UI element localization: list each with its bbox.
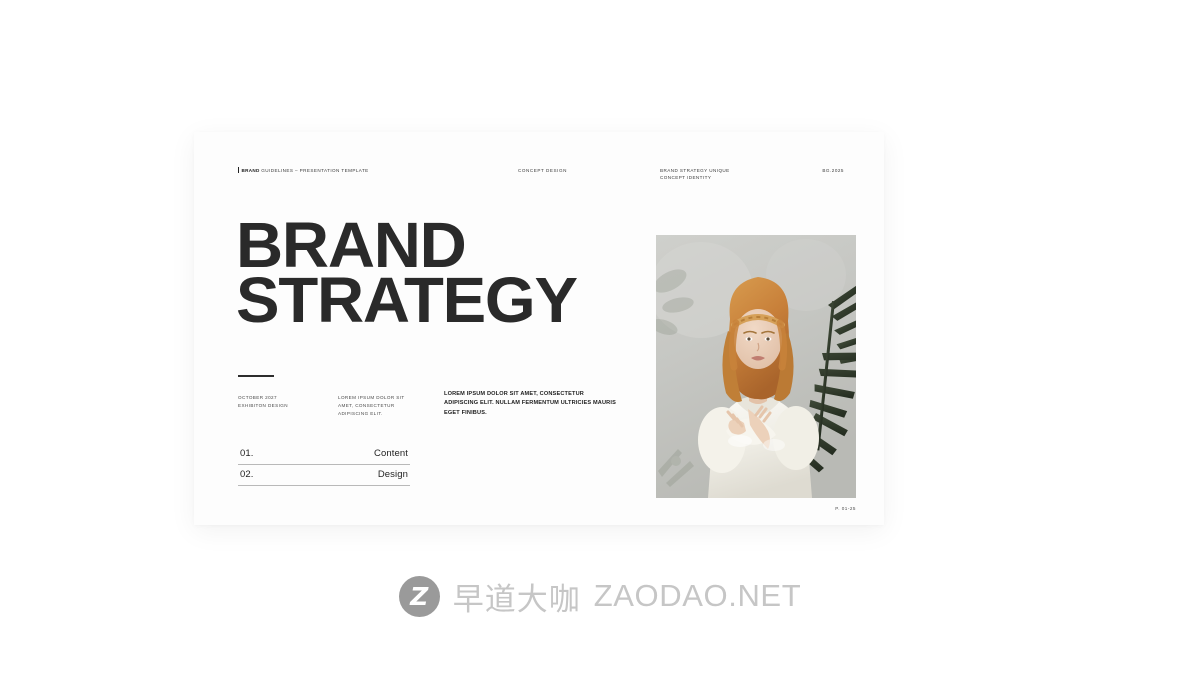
title-line-strategy: STRATEGY: [236, 273, 577, 328]
meta-lorem-line3: ADIPISCING ELIT.: [338, 410, 405, 418]
lead-paragraph: LOREM IPSUM DOLOR SIT AMET, CONSECTETUR …: [444, 390, 616, 418]
header-concept-design: CONCEPT DESIGN: [518, 167, 567, 174]
meta-lorem-block: LOREM IPSUM DOLOR SIT AMET, CONSECTETUR …: [338, 394, 405, 418]
toc-row[interactable]: 02. Design: [238, 465, 410, 486]
header-unique-line1: BRAND STRATEGY UNIQUE: [660, 167, 730, 174]
slide-card: BRAND GUIDELINES – PRESENTATION TEMPLATE…: [194, 132, 884, 525]
header-code: BG.2025: [822, 167, 844, 174]
hero-photo: [656, 235, 856, 498]
meta-lorem-line2: AMET, CONSECTETUR: [338, 402, 405, 410]
slide-title: BRAND STRATEGY: [236, 218, 570, 328]
title-divider-rule: [238, 375, 274, 377]
header-brand-guidelines: BRAND GUIDELINES – PRESENTATION TEMPLATE: [238, 167, 369, 174]
watermark-chinese-text: 早道大咖: [453, 574, 581, 619]
header-unique-identity: BRAND STRATEGY UNIQUE CONCEPT IDENTITY: [660, 167, 730, 181]
hero-photo-illustration: [656, 235, 856, 498]
meta-date-block: OCTOBER 2027 EXHIBITON DESIGN: [238, 394, 288, 410]
meta-date-line2: EXHIBITON DESIGN: [238, 402, 288, 410]
page-number: P. 01-25: [656, 506, 856, 511]
watermark-domain-text: ZAODAO.NET: [594, 578, 802, 614]
toc-number: 02.: [240, 469, 254, 480]
header-brand-rest: GUIDELINES – PRESENTATION TEMPLATE: [260, 168, 369, 173]
meta-date-line1: OCTOBER 2027: [238, 394, 288, 402]
toc-label: Content: [374, 448, 408, 459]
header-brand-word: BRAND: [242, 168, 260, 173]
watermark: Z 早道大咖 ZAODAO.NET: [0, 565, 1200, 627]
header-accent-bar: [238, 167, 239, 173]
table-of-contents: 01. Content 02. Design: [238, 444, 410, 486]
toc-row[interactable]: 01. Content: [238, 444, 410, 465]
zaodao-logo-icon: Z: [399, 576, 440, 617]
toc-label: Design: [378, 469, 408, 480]
header-unique-line2: CONCEPT IDENTITY: [660, 174, 730, 181]
toc-number: 01.: [240, 448, 254, 459]
slide-header: BRAND GUIDELINES – PRESENTATION TEMPLATE…: [238, 164, 844, 188]
meta-lorem-line1: LOREM IPSUM DOLOR SIT: [338, 394, 405, 402]
